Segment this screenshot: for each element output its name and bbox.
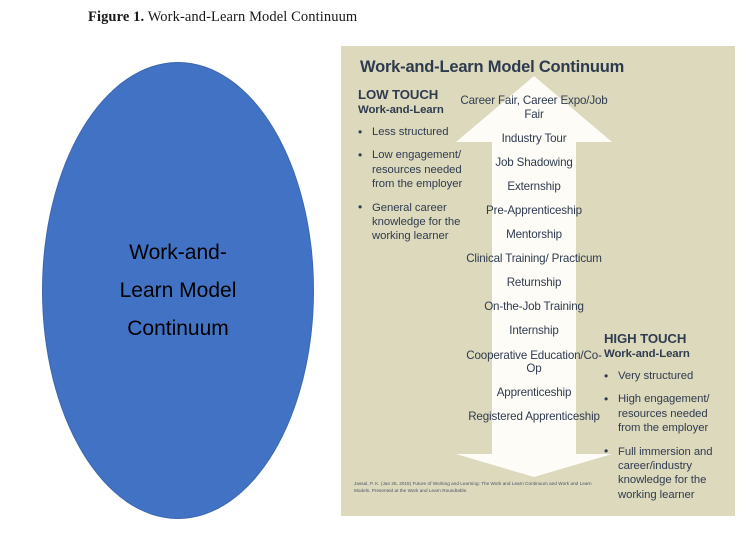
high-touch-bullet: •High engagement/ resources needed from … xyxy=(604,392,728,435)
bullet-icon: • xyxy=(604,444,608,458)
high-touch-subheading: Work-and-Learn xyxy=(604,347,728,362)
panel-title: Work-and-Learn Model Continuum xyxy=(360,58,624,77)
low-touch-bullet-text: Less structured xyxy=(372,126,448,138)
low-touch-subheading: Work-and-Learn xyxy=(358,103,480,118)
ellipse-label-line-2: Learn Model xyxy=(76,272,280,310)
source-citation: Jassal, P. K. (Jan 26, 2015) Future of W… xyxy=(354,480,604,494)
low-touch-bullet: •General career knowledge for the workin… xyxy=(358,201,480,244)
continuum-item: Clinical Training/ Practicum xyxy=(460,252,608,266)
continuum-item-list: Career Fair, Career Expo/Job Fair Indust… xyxy=(460,94,608,434)
ellipse-label-line-3: Continuum xyxy=(76,310,280,348)
low-touch-bullet-text: Low engagement/ resources needed from th… xyxy=(372,149,462,190)
high-touch-bullet: •Very structured xyxy=(604,369,728,383)
bullet-icon: • xyxy=(358,125,362,139)
ellipse-label-line-1: Work-and- xyxy=(76,234,280,272)
low-touch-heading: LOW TOUCH xyxy=(358,88,480,102)
low-touch-bullet-list: •Less structured •Low engagement/ resour… xyxy=(358,125,480,244)
figure-number: Figure 1. xyxy=(88,9,144,25)
continuum-item: Career Fair, Career Expo/Job Fair xyxy=(460,94,608,121)
figure-caption-text: Work-and-Learn Model Continuum xyxy=(148,9,358,25)
figure-caption: Figure 1. Work-and-Learn Model Continuum xyxy=(88,9,357,26)
low-touch-bullet: •Less structured xyxy=(358,125,480,139)
low-touch-callout: LOW TOUCH Work-and-Learn •Less structure… xyxy=(358,88,480,253)
bullet-icon: • xyxy=(358,200,362,214)
high-touch-bullet: •Full immersion and career/industry know… xyxy=(604,445,728,503)
continuum-item: Registered Apprenticeship xyxy=(460,410,608,424)
continuum-item: Externship xyxy=(460,180,608,194)
continuum-item: Apprenticeship xyxy=(460,386,608,400)
ellipse-label: Work-and- Learn Model Continuum xyxy=(42,234,314,348)
bullet-icon: • xyxy=(604,392,608,406)
continuum-item: Pre-Apprenticeship xyxy=(460,204,608,218)
continuum-item: Job Shadowing xyxy=(460,156,608,170)
bullet-icon: • xyxy=(358,148,362,162)
continuum-item: On-the-Job Training xyxy=(460,300,608,314)
high-touch-bullet-list: •Very structured •High engagement/ resou… xyxy=(604,369,728,502)
low-touch-bullet-text: General career knowledge for the working… xyxy=(372,202,460,243)
high-touch-bullet-text: Full immersion and career/industry knowl… xyxy=(618,446,713,501)
high-touch-callout: HIGH TOUCH Work-and-Learn •Very structur… xyxy=(604,332,728,511)
continuum-item: Returnship xyxy=(460,276,608,290)
continuum-item: Mentorship xyxy=(460,228,608,242)
continuum-panel: Work-and-Learn Model Continuum Career Fa… xyxy=(341,46,735,516)
work-and-learn-ellipse: Work-and- Learn Model Continuum xyxy=(42,62,314,519)
continuum-item: Cooperative Education/Co-Op xyxy=(460,349,608,376)
high-touch-heading: HIGH TOUCH xyxy=(604,332,728,346)
high-touch-bullet-text: Very structured xyxy=(618,370,693,382)
low-touch-bullet: •Low engagement/ resources needed from t… xyxy=(358,148,480,191)
continuum-item: Industry Tour xyxy=(460,132,608,146)
high-touch-bullet-text: High engagement/ resources needed from t… xyxy=(618,393,710,434)
continuum-item: Internship xyxy=(460,324,608,338)
bullet-icon: • xyxy=(604,369,608,383)
